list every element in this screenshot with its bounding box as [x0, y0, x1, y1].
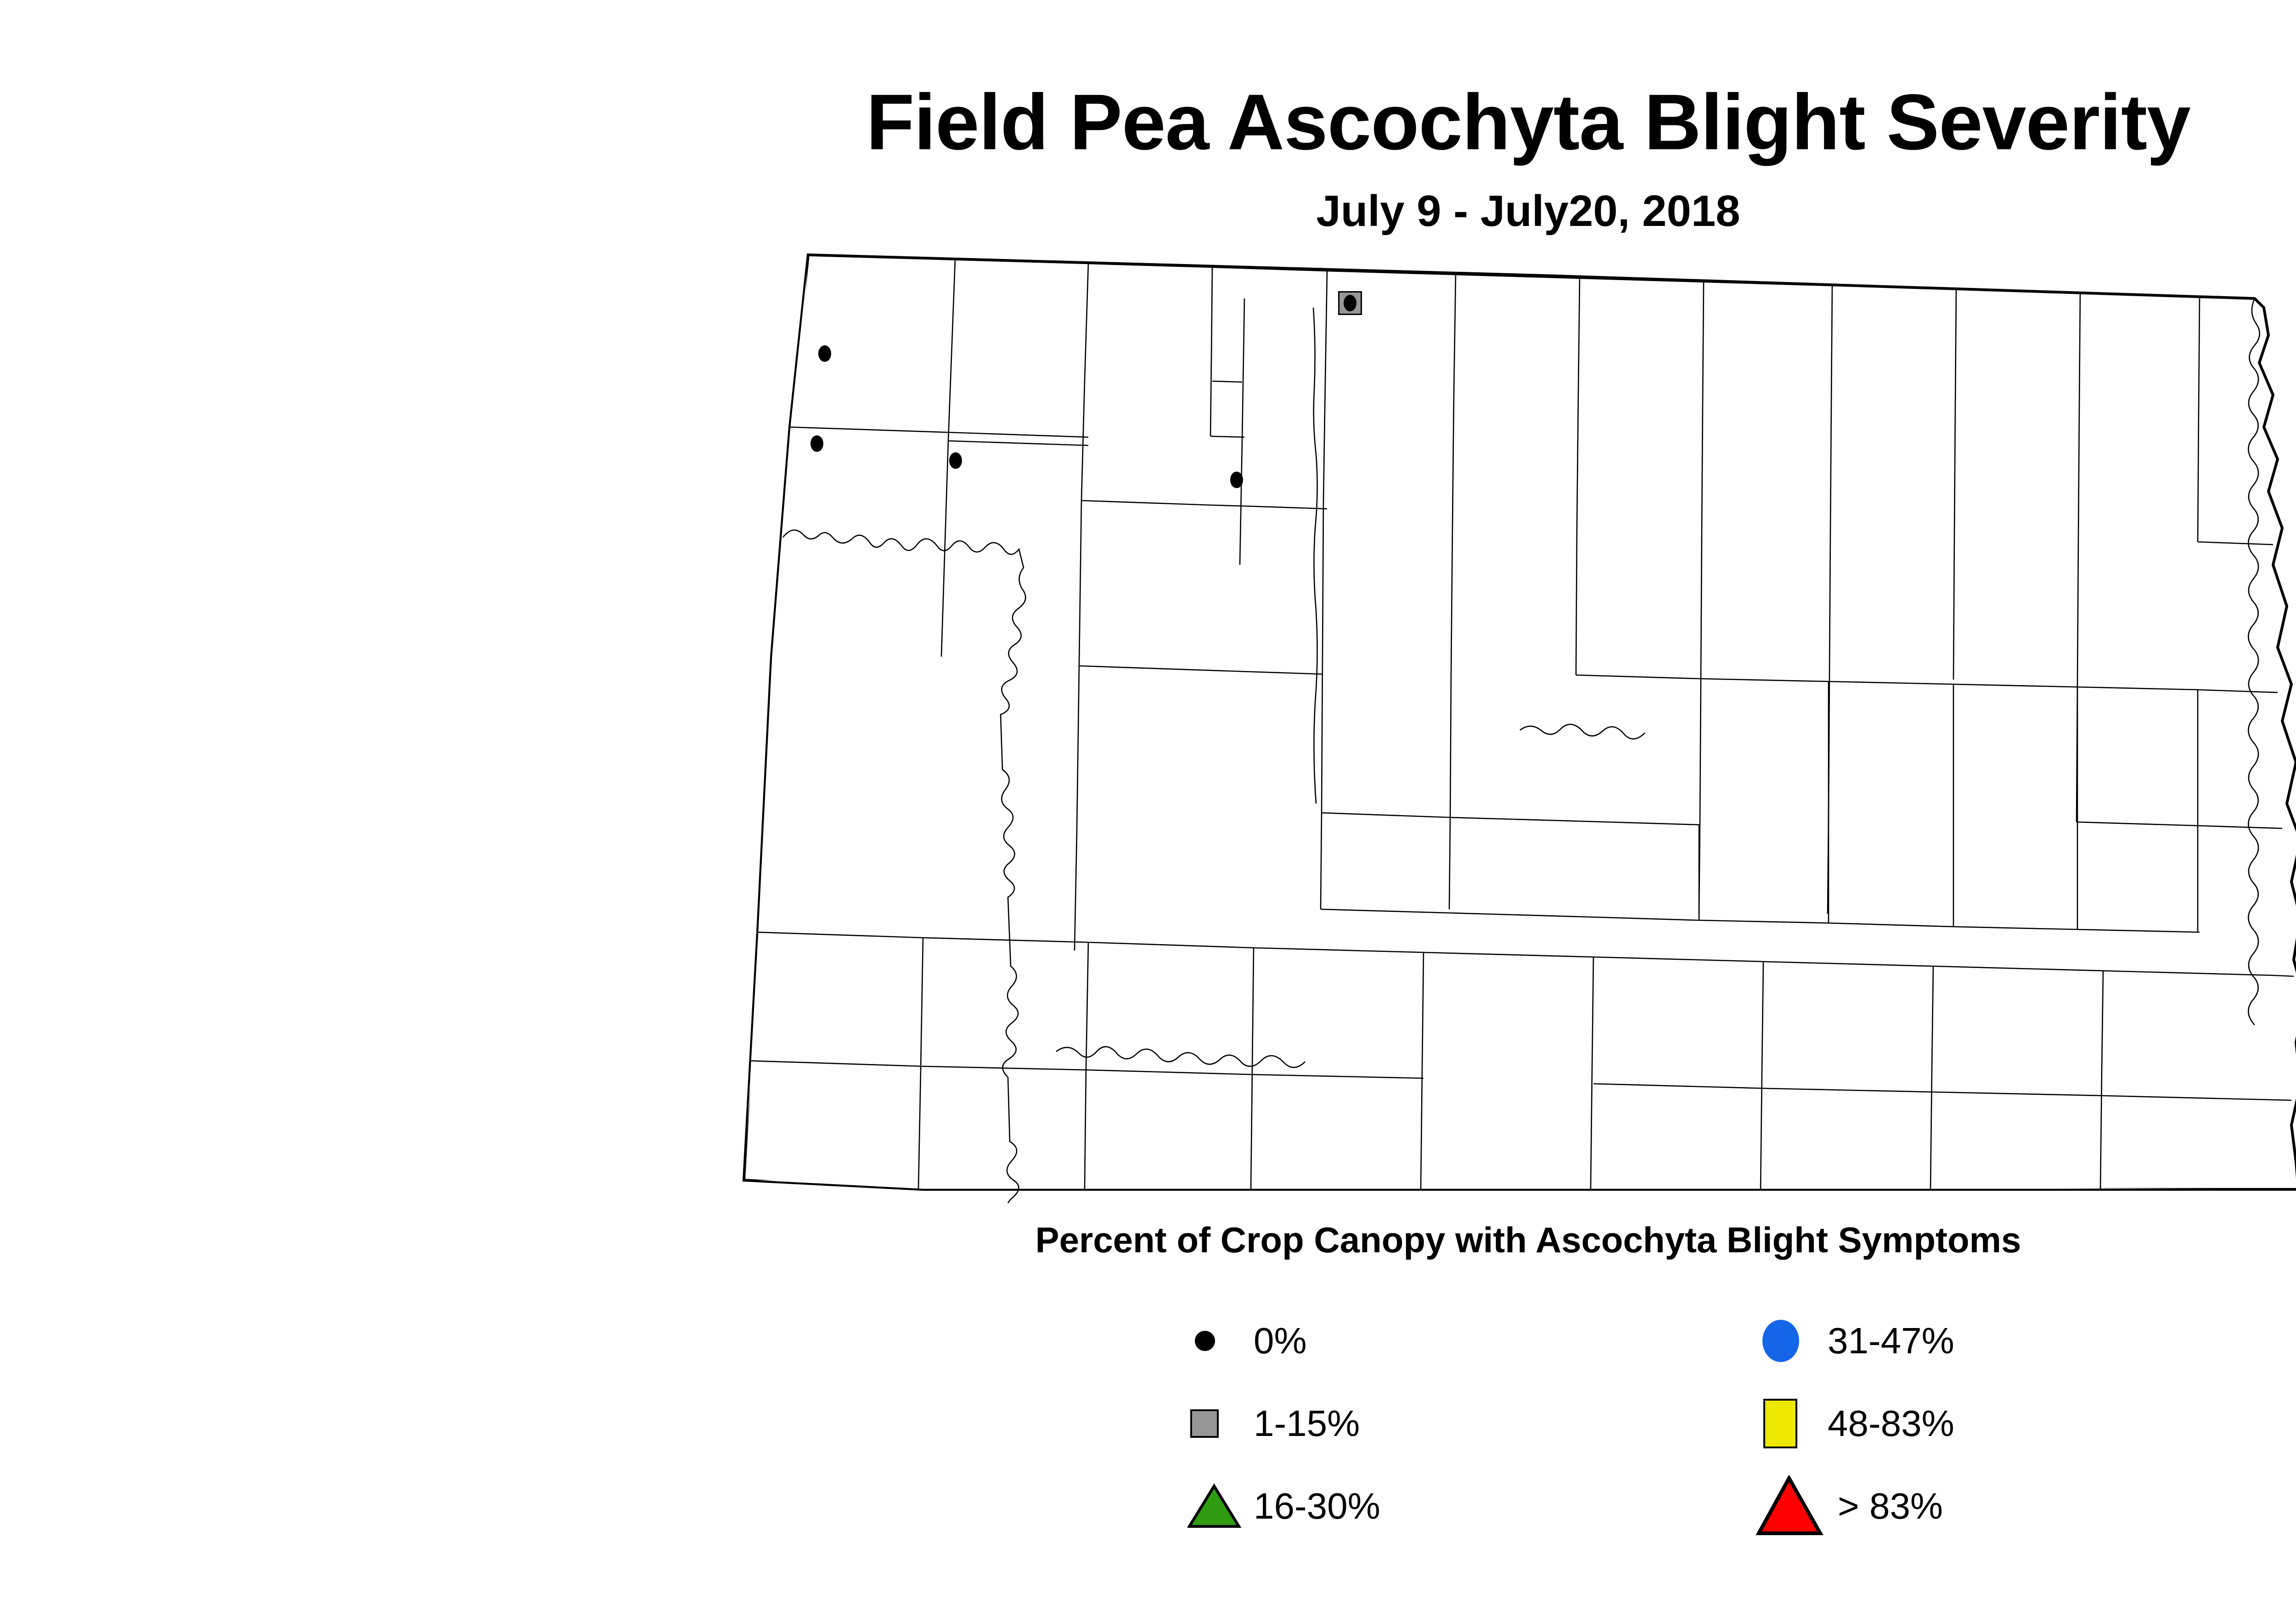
circle-marker-icon: [818, 345, 831, 362]
swatch-gt83pct: [1750, 1475, 1828, 1537]
legend-row: 1-15% 48-83%: [1176, 1382, 2140, 1465]
page-subtitle: July 9 - July20, 2018: [0, 189, 2296, 233]
legend-row: 16-30% > 83%: [1176, 1465, 2140, 1548]
swatch-48-83pct: [1750, 1399, 1828, 1448]
legend-label: 1-15%: [1254, 1405, 1360, 1442]
circle-marker-icon: [1344, 295, 1356, 311]
map-marker-0pct[interactable]: [1230, 472, 1243, 488]
swatch-0pct: [1176, 1331, 1254, 1351]
legend-item-1-15pct[interactable]: 1-15%: [1176, 1405, 1750, 1442]
county-boundaries: [744, 255, 2296, 1203]
circle-marker-icon: [1230, 472, 1243, 488]
circle-marker-icon: [810, 435, 823, 452]
legend-label: 48-83%: [1828, 1405, 1954, 1442]
triangle-swatch-icon: [1187, 1483, 1243, 1529]
legend-label: 16-30%: [1254, 1488, 1380, 1525]
legend-item-48-83pct[interactable]: 48-83%: [1750, 1399, 2140, 1448]
legend-item-0pct[interactable]: 0%: [1176, 1323, 1750, 1359]
swatch-1-15pct: [1176, 1409, 1254, 1438]
square-swatch-icon: [1763, 1399, 1797, 1448]
north-dakota-county-map[interactable]: [739, 243, 2296, 1203]
square-swatch-icon: [1190, 1409, 1219, 1438]
map-marker-0pct[interactable]: [818, 345, 831, 362]
legend-caption: Percent of Crop Canopy with Ascochyta Bl…: [0, 1219, 2296, 1261]
circle-swatch-icon: [1762, 1320, 1799, 1362]
circle-marker-icon: [949, 452, 962, 469]
legend-label: > 83%: [1838, 1488, 1943, 1525]
triangle-swatch-icon: [1756, 1475, 1825, 1537]
circle-swatch-icon: [1195, 1331, 1215, 1351]
map-svg: [739, 243, 2296, 1203]
legend-label: 0%: [1254, 1323, 1307, 1359]
legend-item-31-47pct[interactable]: 31-47%: [1750, 1320, 2140, 1362]
page-title: Field Pea Ascochyta Blight Severity: [0, 83, 2296, 162]
map-marker-0pct[interactable]: [949, 452, 962, 469]
swatch-16-30pct: [1176, 1483, 1254, 1529]
map-marker-0pct[interactable]: [810, 435, 823, 452]
legend: 0% 31-47% 1-15% 48-83%: [1176, 1300, 2140, 1548]
swatch-31-47pct: [1750, 1320, 1828, 1362]
poster-root: Field Pea Ascochyta Blight Severity July…: [0, 0, 2296, 1610]
map-marker-0pct-overlap[interactable]: [1344, 295, 1356, 311]
title-block: Field Pea Ascochyta Blight Severity July…: [0, 0, 2296, 233]
legend-item-gt83pct[interactable]: > 83%: [1750, 1475, 2140, 1537]
legend-label: 31-47%: [1828, 1323, 1954, 1359]
legend-item-16-30pct[interactable]: 16-30%: [1176, 1483, 1750, 1529]
legend-row: 0% 31-47%: [1176, 1300, 2140, 1382]
